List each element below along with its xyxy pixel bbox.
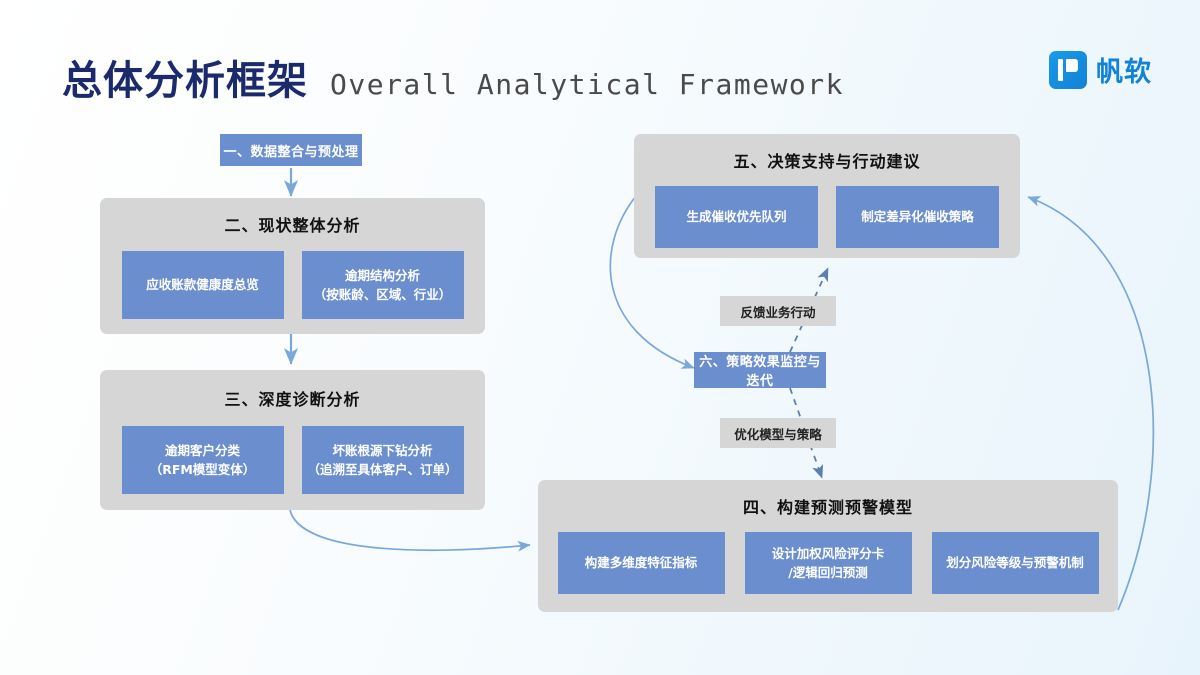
node-step2-box-1[interactable]: 应收账款健康度总览 — [122, 251, 284, 319]
node-step5-box-1[interactable]: 生成催收优先队列 — [655, 186, 818, 248]
node-step2-box-1-label: 应收账款健康度总览 — [146, 275, 259, 294]
node-step4-box-3-label: 划分风险等级与预警机制 — [946, 553, 1084, 572]
page-title: 总体分析框架 Overall Analytical Framework — [62, 48, 844, 106]
node-step5-box-2-label: 制定差异化催收策略 — [861, 207, 974, 226]
node-step4-box-2[interactable]: 设计加权风险评分卡 /逻辑回归预测 — [745, 532, 912, 594]
group-step2-title: 二、现状整体分析 — [100, 212, 485, 236]
node-step3-box-2-label: 坏账根源下钻分析 — [332, 441, 432, 460]
label-feedback-business-action-text: 反馈业务行动 — [740, 302, 815, 321]
node-step1-data-integration[interactable]: 一、数据整合与预处理 — [220, 134, 362, 166]
brand-logo: 帆软 — [1049, 50, 1152, 89]
node-step3-box-2[interactable]: 坏账根源下钻分析 （追溯至具体客户、订单） — [302, 426, 464, 494]
node-step3-box-1-label: 逾期客户分类 — [165, 441, 240, 460]
page-title-en: Overall Analytical Framework — [330, 68, 844, 101]
node-step3-box-1-sublabel: （RFM模型变体） — [150, 460, 256, 479]
node-step4-box-2-label: 设计加权风险评分卡 — [772, 544, 885, 563]
node-step4-box-1[interactable]: 构建多维度特征指标 — [558, 532, 725, 594]
node-step4-box-3[interactable]: 划分风险等级与预警机制 — [932, 532, 1099, 594]
node-step5-box-1-label: 生成催收优先队列 — [686, 207, 786, 226]
node-step5-box-2[interactable]: 制定差异化催收策略 — [836, 186, 999, 248]
node-step6-label: 六、策略效果监控与迭代 — [694, 351, 826, 389]
page-title-cn: 总体分析框架 — [62, 48, 308, 106]
label-feedback-business-action: 反馈业务行动 — [720, 296, 836, 326]
group-step5-decision-support: 五、决策支持与行动建议 生成催收优先队列 制定差异化催收策略 — [634, 134, 1020, 258]
label-optimize-model-strategy-text: 优化模型与策略 — [734, 424, 822, 443]
group-step4-title: 四、构建预测预警模型 — [538, 494, 1118, 518]
brand-logo-label: 帆软 — [1096, 50, 1152, 89]
group-step5-title: 五、决策支持与行动建议 — [634, 148, 1020, 172]
node-step3-box-1[interactable]: 逾期客户分类 （RFM模型变体） — [122, 426, 284, 494]
group-step3-deep-diagnosis: 三、深度诊断分析 逾期客户分类 （RFM模型变体） 坏账根源下钻分析 （追溯至具… — [100, 370, 485, 510]
slide-canvas: 总体分析框架 Overall Analytical Framework 帆软 — [0, 0, 1200, 675]
group-step4-predictive-model: 四、构建预测预警模型 构建多维度特征指标 设计加权风险评分卡 /逻辑回归预测 划… — [538, 480, 1118, 612]
fanruan-logo-mark-icon — [1049, 51, 1087, 89]
node-step4-box-1-label: 构建多维度特征指标 — [585, 553, 698, 572]
node-step2-box-2-sublabel: （按账龄、区域、行业） — [314, 285, 452, 304]
node-step3-box-2-sublabel: （追溯至具体客户、订单） — [308, 460, 458, 479]
node-step4-box-2-sublabel: /逻辑回归预测 — [788, 563, 868, 582]
group-step2-current-state-analysis: 二、现状整体分析 应收账款健康度总览 逾期结构分析 （按账龄、区域、行业） — [100, 198, 485, 334]
node-step2-box-2-label: 逾期结构分析 — [345, 266, 420, 285]
label-optimize-model-strategy: 优化模型与策略 — [720, 418, 836, 448]
node-step2-box-2[interactable]: 逾期结构分析 （按账龄、区域、行业） — [302, 251, 464, 319]
edge-step3-to-step4 — [290, 510, 530, 550]
group-step3-title: 三、深度诊断分析 — [100, 386, 485, 410]
node-step1-label: 一、数据整合与预处理 — [223, 141, 358, 160]
node-step6-strategy-monitoring[interactable]: 六、策略效果监控与迭代 — [694, 352, 826, 388]
